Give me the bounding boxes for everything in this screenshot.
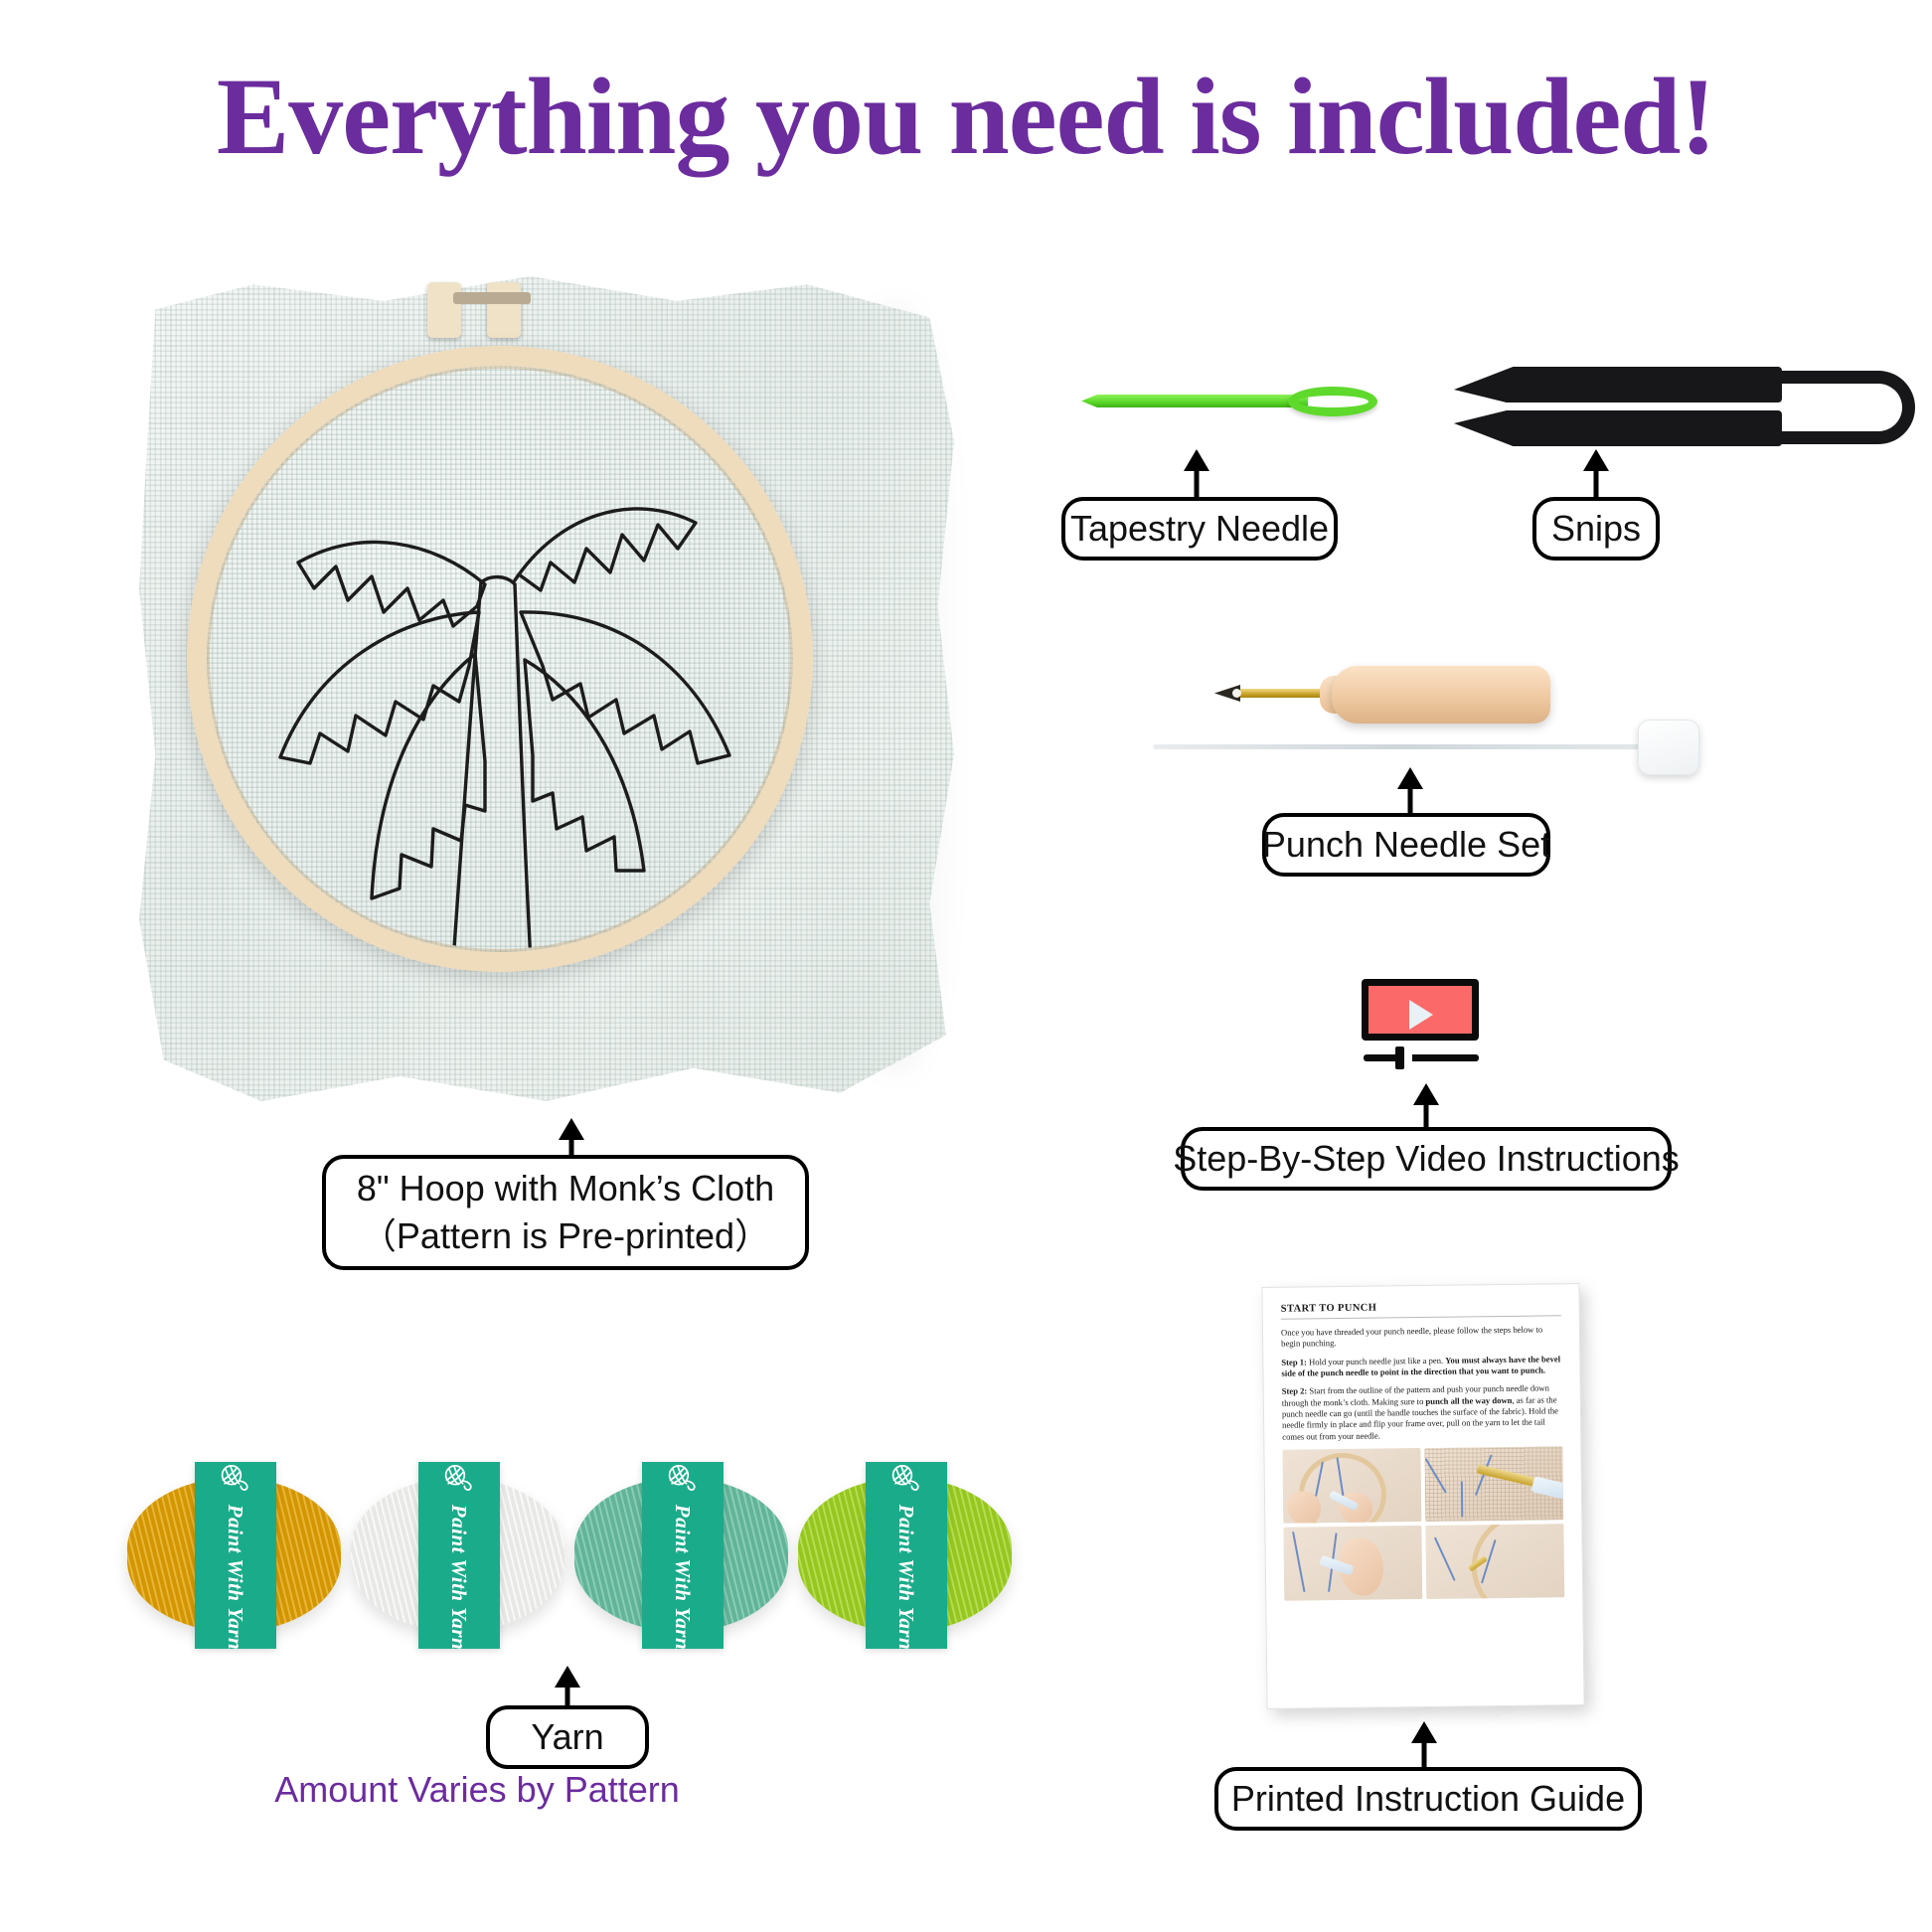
yarn-band-label: Paint With Yarn	[866, 1462, 947, 1649]
snips-image	[1446, 353, 1923, 462]
tapestry-needle-image	[1081, 383, 1389, 418]
video-player-icon[interactable]	[1362, 979, 1491, 1073]
yarn-skein-lime: Paint With Yarn	[798, 1478, 1012, 1632]
callout-hoop-line2: （Pattern is Pre-printed）	[361, 1212, 770, 1260]
guide-heading: START TO PUNCH	[1281, 1300, 1561, 1314]
yarn-ball-logo-icon	[666, 1461, 700, 1495]
callout-hoop-line1: 8" Hoop with Monk’s Cloth	[357, 1165, 774, 1212]
palm-tree-pattern-icon	[187, 346, 813, 972]
callout-yarn-label: Yarn	[531, 1713, 603, 1761]
yarn-amount-note: Amount Varies by Pattern	[0, 1769, 954, 1811]
video-progress-knob	[1395, 1046, 1404, 1069]
hoop-tension-screw	[453, 292, 531, 304]
snips-rivet-2	[1641, 381, 1656, 396]
printed-instruction-guide-image: START TO PUNCH Once you have threaded yo…	[1261, 1283, 1584, 1709]
guide-step1-text: Hold your punch needle just like a pen.	[1307, 1355, 1446, 1367]
video-progress-gap	[1404, 1054, 1412, 1061]
guide-step1: Step 1: Hold your punch needle just like…	[1281, 1354, 1561, 1379]
guide-intro: Once you have threaded your punch needle…	[1281, 1324, 1561, 1350]
guide-photo-2	[1424, 1446, 1563, 1522]
hoop-with-monks-cloth-image	[139, 276, 954, 1101]
guide-step2-label: Step 2:	[1282, 1386, 1308, 1396]
yarn-ball-logo-icon	[442, 1461, 476, 1495]
punch-needle-threader-wire	[1153, 744, 1648, 749]
play-triangle-icon	[1409, 1000, 1433, 1030]
callout-punch-needle-set-label: Punch Needle Set	[1262, 821, 1550, 869]
snips-blade-bottom	[1454, 410, 1782, 446]
punch-needle-eye	[1232, 689, 1241, 698]
guide-photo-3	[1283, 1526, 1422, 1601]
yarn-band-label: Paint With Yarn	[418, 1462, 500, 1649]
guide-photo-grid	[1282, 1446, 1564, 1600]
yarn-brand-text: Paint With Yarn	[894, 1505, 919, 1650]
yarn-ball-logo-icon	[219, 1461, 252, 1495]
video-progress-bar	[1364, 1054, 1479, 1061]
callout-punch-needle-set: Punch Needle Set	[1262, 813, 1550, 877]
needle-eye	[1288, 387, 1377, 416]
callout-video-instructions-label: Step-By-Step Video Instructions	[1173, 1135, 1680, 1183]
callout-yarn: Yarn	[486, 1705, 649, 1769]
yarn-brand-text: Paint With Yarn	[224, 1505, 248, 1650]
yarn-skein-white: Paint With Yarn	[351, 1478, 564, 1632]
callout-hoop: 8" Hoop with Monk’s Cloth （Pattern is Pr…	[322, 1155, 809, 1270]
yarn-band-label: Paint With Yarn	[642, 1462, 724, 1649]
hoop-bracket-left	[427, 282, 461, 338]
guide-divider	[1281, 1315, 1561, 1319]
callout-instruction-guide-label: Printed Instruction Guide	[1231, 1775, 1625, 1823]
guide-photo-4	[1425, 1524, 1564, 1599]
callout-tapestry-needle-label: Tapestry Needle	[1070, 505, 1329, 553]
guide-step1-label: Step 1:	[1281, 1357, 1307, 1367]
punch-needle-set-image	[1153, 656, 1739, 785]
needle-shaft	[1081, 395, 1308, 407]
page-title: Everything you need is included!	[0, 58, 1932, 176]
yarn-brand-text: Paint With Yarn	[447, 1505, 472, 1650]
callout-tapestry-needle: Tapestry Needle	[1061, 497, 1338, 561]
yarn-skein-gold: Paint With Yarn	[127, 1478, 341, 1632]
callout-snips: Snips	[1532, 497, 1660, 561]
guide-step2-bold: punch all the way down	[1425, 1395, 1512, 1406]
snips-rivet-1	[1607, 375, 1622, 390]
yarn-skein-mint: Paint With Yarn	[574, 1478, 788, 1632]
yarn-brand-text: Paint With Yarn	[671, 1505, 696, 1650]
punch-needle-shaft	[1230, 689, 1334, 698]
callout-video-instructions: Step-By-Step Video Instructions	[1181, 1127, 1672, 1191]
guide-photo-1	[1282, 1448, 1421, 1524]
yarn-band-label: Paint With Yarn	[195, 1462, 276, 1649]
callout-snips-label: Snips	[1551, 505, 1641, 553]
hoop-bracket-right	[487, 282, 521, 338]
snips-spring-handle	[1744, 371, 1915, 444]
yarn-ball-logo-icon	[889, 1461, 923, 1495]
punch-needle-threader-paddle	[1638, 720, 1699, 775]
guide-step2: Step 2: Start from the outline of the pa…	[1282, 1383, 1563, 1443]
callout-instruction-guide: Printed Instruction Guide	[1214, 1767, 1642, 1831]
punch-needle-wooden-handle	[1332, 666, 1550, 724]
